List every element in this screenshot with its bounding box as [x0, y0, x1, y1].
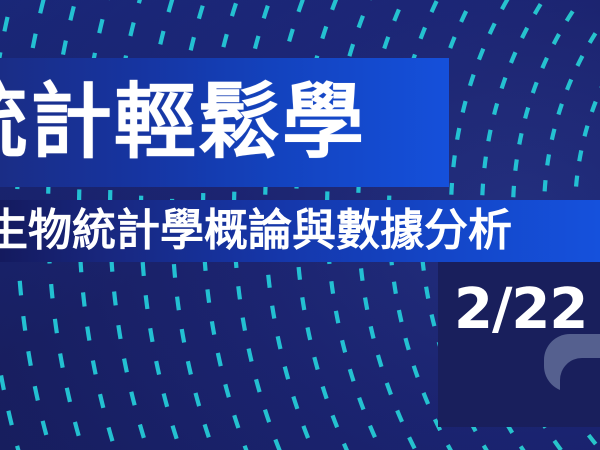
- subtitle-bar: 生物統計學概論與數據分析: [0, 200, 600, 262]
- rounded-accent-shape-cutout: [560, 358, 600, 398]
- title-bar: 統計輕鬆學: [0, 58, 449, 187]
- date-badge: 2/22: [454, 282, 587, 338]
- page-subtitle: 生物統計學概論與數據分析: [0, 209, 512, 253]
- banner-canvas: 統計輕鬆學 生物統計學概論與數據分析 2/22: [0, 0, 600, 450]
- date-panel: 2/22: [438, 262, 600, 427]
- page-title: 統計輕鬆學: [0, 82, 366, 164]
